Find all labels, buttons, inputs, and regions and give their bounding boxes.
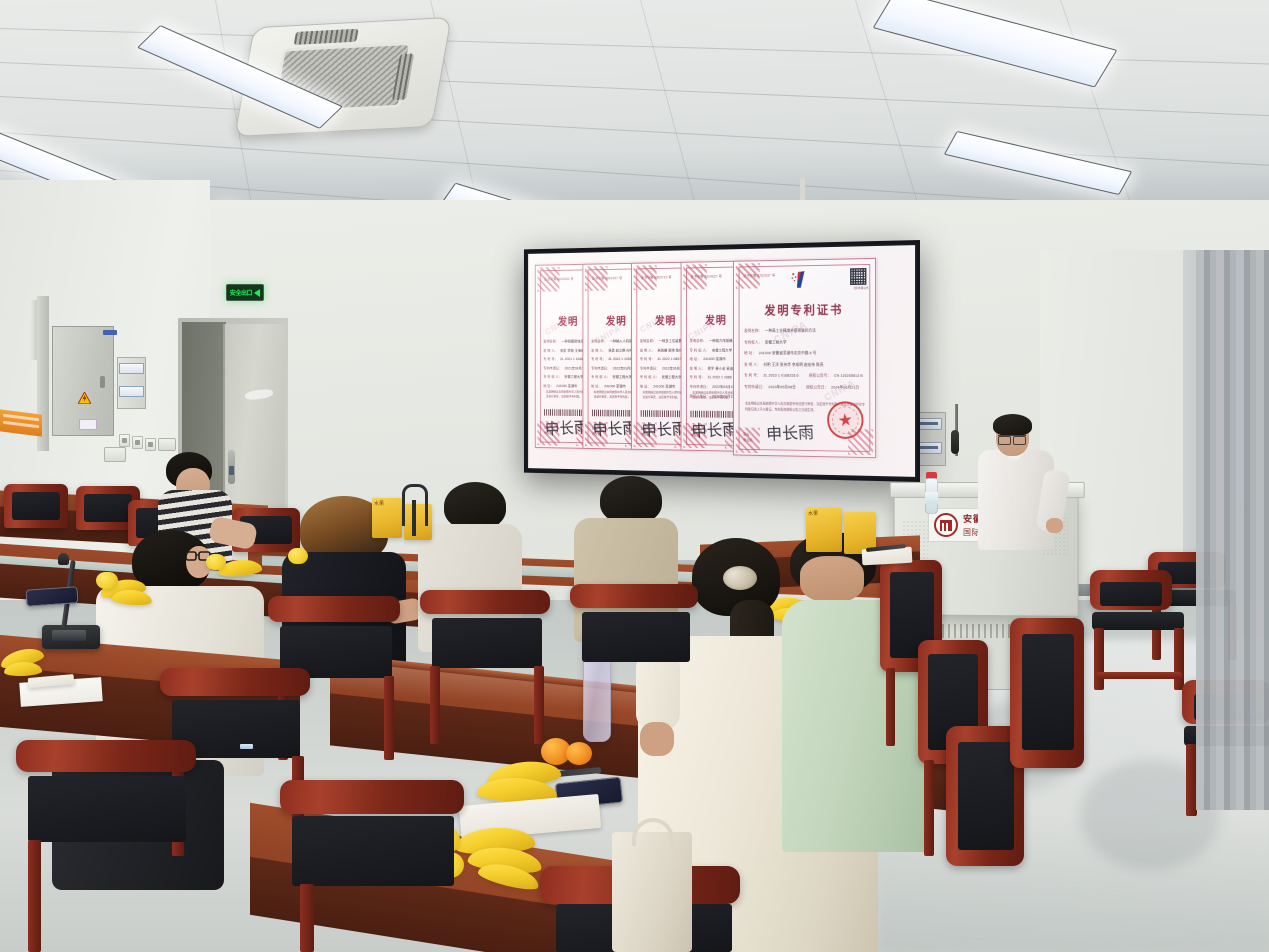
field-key: 专 利 权 人： [543, 375, 561, 380]
signature-label: 局长申长雨 [743, 431, 752, 443]
field-value: 241000 芜湖市 [653, 385, 675, 390]
field-value: 241000 芜湖市 [703, 357, 725, 362]
certificate-number: 证书号第 6953719 号 [641, 274, 672, 279]
field-value: 安徽工程大学 [662, 376, 682, 381]
field-key: 专 利 号： [543, 357, 557, 362]
certificate-number: 证书号第 7024627 号 [691, 274, 723, 279]
field-value: ZL 2022 1 1903 [608, 357, 631, 362]
bottle-label [925, 492, 938, 504]
bag-label: 水果 [372, 498, 402, 511]
hand-truck-stem [412, 500, 416, 536]
field-key: 地 址： [591, 384, 602, 389]
exit-arrow-icon [254, 289, 260, 297]
field-value: ZL 2023 1 0168253.6 [763, 374, 798, 379]
lemon [96, 572, 118, 589]
bag-label: 水果 [806, 508, 842, 521]
field-value: 一种多工位装置 [659, 339, 682, 344]
certificate-gallery: 证书号第 6634062 号 发明 发明名称：一种耐磨耐蚀涂层 发 明 人：张宏… [535, 257, 909, 467]
field-key: 专 利 号： [744, 374, 760, 379]
field-key: 专 利 权 人： [690, 348, 710, 353]
field-value: CN 116265813 B [834, 374, 863, 379]
field-value: 241000 安徽省芜湖市北京中路 8 号 [759, 351, 817, 356]
field-key: 专 利 号： [690, 376, 705, 381]
field-value: 241000 芜湖市 [556, 384, 577, 389]
wall-socket[interactable] [119, 434, 130, 447]
microphone-control-panel[interactable] [52, 630, 86, 641]
field-value: 2024年06月21日 [831, 385, 859, 390]
field-value: ZL 2021 1 1088 [560, 357, 583, 362]
field-key: 地 址： [640, 385, 651, 390]
field-key: 发 明 人： [690, 367, 705, 372]
certificate-number: 证书号第 8762537 号 [743, 273, 775, 278]
field-key: 发明名称： [744, 329, 762, 334]
smartphone[interactable] [25, 586, 78, 607]
electric-hazard-warning-icon [78, 392, 91, 404]
conference-room-photo: 安全出口 [0, 0, 1269, 952]
field-key: 地 址： [744, 351, 756, 356]
wall-junction-box [104, 447, 126, 462]
field-key: 专利申请日： [640, 366, 660, 371]
certificate-signature: 申长雨 [691, 416, 738, 442]
university-crest-icon [934, 513, 958, 537]
field-value: 郑宇 黄小龙 吴迪 [708, 367, 734, 372]
field-key: 发明名称： [640, 339, 656, 344]
field-key: 发 明 人： [543, 349, 557, 354]
cabinet-label [103, 330, 117, 335]
field-value: 2023年05月08日 [768, 385, 795, 390]
field-key: 专利权人： [744, 340, 762, 345]
patent-certificate-main: 证书号第 8762537 号 扫码查看证书 发明专利证书 发明名称：一种高工业精… [733, 258, 876, 458]
field-value: 吴勇 赵立群 孙明 [608, 348, 632, 353]
field-value: 安徽工程大学 [712, 348, 732, 353]
eyeglasses-icon [998, 435, 1026, 442]
field-value: 朱晓峰 周伟 陈婷 [657, 348, 682, 353]
field-key: 地 址： [543, 384, 553, 389]
field-key: 专利申请日： [543, 366, 562, 371]
breaker-row[interactable] [119, 363, 144, 374]
exit-sign-label: 安全出口 [230, 288, 252, 297]
cabinet-sticker [79, 419, 97, 430]
microphone-icon [58, 553, 69, 565]
field-key: 授权公告日： [806, 385, 828, 390]
hair-scrunchie [723, 566, 757, 590]
field-value: 安徽工程大学 [564, 375, 583, 380]
field-value: 241000 芜湖市 [604, 384, 626, 389]
tote-bag [612, 832, 692, 952]
presentation-screen[interactable]: 证书号第 6634062 号 发明 发明名称：一种耐磨耐蚀涂层 发 明 人：张宏… [524, 240, 920, 482]
field-key: 专利申请日： [591, 366, 610, 371]
field-key: 地 址： [690, 357, 701, 362]
window-curtain[interactable] [1196, 250, 1269, 810]
field-key: 发明名称： [591, 339, 607, 344]
field-key: 专 利 权 人： [640, 376, 659, 381]
field-key: 专利申请日： [744, 385, 766, 390]
wall-data-jack[interactable] [158, 438, 176, 451]
electrical-conduit [30, 300, 37, 360]
field-value: ZL 2022 1 0897 [657, 357, 681, 362]
certificate-number: 证书号第 6691067 号 [592, 275, 622, 280]
field-key: 发明名称： [543, 340, 559, 345]
lemon [206, 554, 226, 570]
field-value: 一种磁力传感器 [709, 339, 733, 344]
microphone-icon [951, 430, 959, 454]
field-value: 安徽工程大学 [613, 375, 632, 380]
field-key: 授权公告号： [809, 374, 831, 379]
certificate-number: 证书号第 6634062 号 [544, 276, 574, 281]
field-key: 专 利 权 人： [591, 375, 610, 380]
shopping-bag: 水果 [806, 508, 842, 552]
cnipa-logo-icon [788, 268, 811, 292]
breaker-row[interactable] [119, 386, 144, 397]
field-key: 专利申请日： [690, 385, 710, 390]
field-value: 安徽工程大学 [765, 340, 787, 345]
certificate-signature: 申长雨 [766, 418, 815, 444]
field-key: 发 明 人： [640, 348, 655, 353]
field-key: 发 明 人： [744, 362, 760, 367]
wall-socket[interactable] [132, 436, 143, 449]
lemon [288, 548, 308, 564]
wall-socket[interactable] [145, 438, 156, 451]
door-lock-icon[interactable] [229, 466, 234, 475]
field-value: 刘明 王洋 张伟华 李成明 赵宏伟 陈亮 [763, 362, 823, 367]
field-key: 专 利 号： [640, 357, 655, 362]
field-key: 发明名称： [690, 339, 707, 344]
field-value: 张宏 李强 王海峰 [560, 348, 584, 353]
field-key: 发 明 人： [591, 348, 606, 353]
shopping-bag: 水果 [372, 498, 402, 538]
field-value: 一种高工业精度补偿测量的方法 [765, 329, 816, 334]
emergency-exit-sign: 安全出口 [226, 284, 264, 301]
orange [566, 742, 592, 765]
qr-caption: 扫码查看证书 [853, 286, 868, 290]
certificate-title: 发明专利证书 [734, 301, 875, 319]
certificate-qr-code[interactable] [850, 268, 866, 285]
field-value: ZL 2022 1 1886 [708, 376, 732, 381]
cabinet-latch[interactable] [100, 376, 105, 388]
field-key: 专 利 号： [591, 357, 606, 362]
